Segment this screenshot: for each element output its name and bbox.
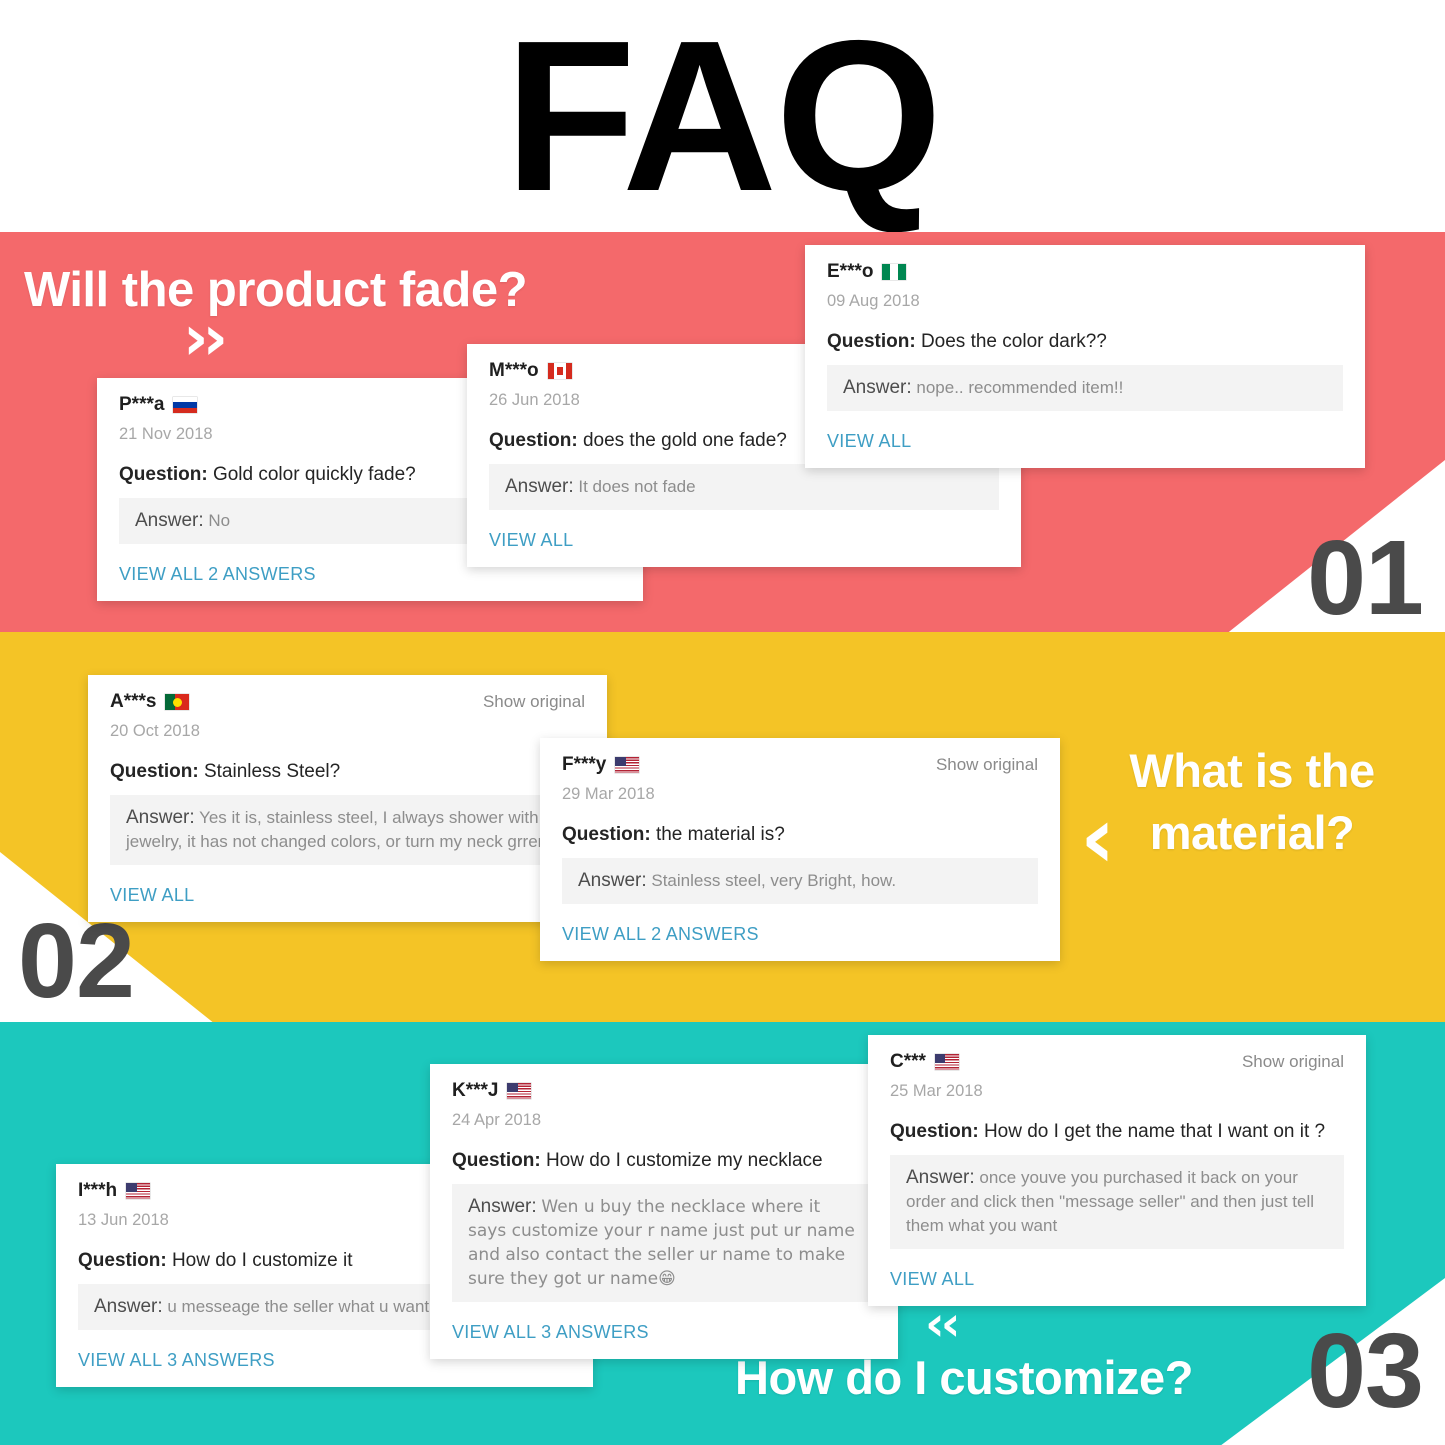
answer-label: Answer: (126, 807, 195, 828)
ru-flag-icon (173, 397, 197, 413)
card-question: Question: How do I get the name that I w… (890, 1121, 1344, 1143)
section-03-number: 03 (1307, 1318, 1423, 1424)
view-all-link[interactable]: VIEW ALL (489, 530, 999, 551)
section-02-heading: What is the material? (1087, 740, 1417, 864)
card-question: Question: Does the color dark?? (827, 331, 1343, 353)
section-01-heading: Will the product fade? (24, 262, 527, 318)
answer-text: nope.. recommended item!! (916, 378, 1123, 397)
username: F***y (562, 754, 606, 776)
answer-label: Answer: (578, 870, 647, 891)
view-all-link[interactable]: VIEW ALL 3 ANSWERS (452, 1322, 876, 1343)
question-label: Question: (78, 1250, 167, 1271)
us-flag-icon (615, 757, 639, 773)
username: A***s (110, 691, 156, 713)
card-question: Question: How do I customize my necklace (452, 1150, 876, 1172)
show-original-link[interactable]: Show original (483, 692, 585, 712)
answer-label: Answer: (906, 1167, 975, 1188)
question-text: How do I customize my necklace (546, 1150, 823, 1171)
page-title: FAQ (0, 8, 1445, 223)
card-question: Question: Stainless Steel? (110, 761, 585, 783)
section-01-number: 01 (1307, 525, 1423, 631)
card-answer: Answer: Stainless steel, very Bright, ho… (562, 858, 1038, 904)
username: K***J (452, 1080, 498, 1102)
answer-label: Answer: (94, 1296, 163, 1317)
card-header: K***J (452, 1078, 876, 1104)
card-user: E***o (827, 261, 906, 283)
faq-infographic: FAQ Will the product fade? ›› 01 P***a 2… (0, 0, 1445, 1445)
question-text: How do I get the name that I want on it … (984, 1121, 1325, 1142)
qa-card[interactable]: E***o 09 Aug 2018 Question: Does the col… (805, 245, 1365, 468)
question-label: Question: (562, 824, 651, 845)
chevron-left-double-icon: ‹‹ (925, 1300, 957, 1348)
card-header: C*** Show original (890, 1049, 1344, 1075)
view-all-link[interactable]: VIEW ALL (890, 1269, 1344, 1290)
card-date: 29 Mar 2018 (562, 785, 1038, 804)
qa-card[interactable]: A***s Show original 20 Oct 2018 Question… (88, 675, 607, 922)
chevron-left-icon: ‹ (1080, 795, 1115, 881)
question-text: Gold color quickly fade? (213, 464, 416, 485)
answer-label: Answer: (135, 510, 204, 531)
card-header: E***o (827, 259, 1343, 285)
username: E***o (827, 261, 873, 283)
card-question: Question: the material is? (562, 824, 1038, 846)
question-text: does the gold one fade? (583, 430, 787, 451)
show-original-link[interactable]: Show original (1242, 1052, 1344, 1072)
username: C*** (890, 1051, 926, 1073)
card-answer: Answer: nope.. recommended item!! (827, 365, 1343, 411)
card-user: K***J (452, 1080, 531, 1102)
qa-card[interactable]: K***J 24 Apr 2018 Question: How do I cus… (430, 1064, 898, 1359)
qa-card[interactable]: F***y Show original 29 Mar 2018 Question… (540, 738, 1060, 961)
us-flag-icon (935, 1054, 959, 1070)
card-answer: Answer: Yes it is, stainless steel, I al… (110, 795, 585, 865)
question-text: the material is? (656, 824, 785, 845)
answer-text: No (208, 511, 230, 530)
section-02-number: 02 (18, 908, 134, 1014)
card-date: 24 Apr 2018 (452, 1111, 876, 1130)
show-original-link[interactable]: Show original (936, 755, 1038, 775)
answer-text: Stainless steel, very Bright, how. (651, 871, 896, 890)
card-user: P***a (119, 394, 197, 416)
pt-flag-icon (165, 694, 189, 710)
view-all-link[interactable]: VIEW ALL 2 ANSWERS (562, 924, 1038, 945)
question-label: Question: (489, 430, 578, 451)
card-answer: Answer: Wen u buy the necklace where it … (452, 1184, 876, 1302)
card-user: C*** (890, 1051, 959, 1073)
view-all-link[interactable]: VIEW ALL (110, 885, 585, 906)
card-user: A***s (110, 691, 189, 713)
ca-flag-icon (548, 363, 572, 379)
answer-text: It does not fade (578, 477, 695, 496)
card-date: 20 Oct 2018 (110, 722, 585, 741)
question-label: Question: (827, 331, 916, 352)
us-flag-icon (126, 1183, 150, 1199)
card-date: 09 Aug 2018 (827, 292, 1343, 311)
question-label: Question: (890, 1121, 979, 1142)
answer-label: Answer: (468, 1196, 537, 1217)
card-user: M***o (489, 360, 572, 382)
username: I***h (78, 1180, 117, 1202)
ng-flag-icon (882, 264, 906, 280)
card-date: 25 Mar 2018 (890, 1082, 1344, 1101)
qa-card[interactable]: C*** Show original 25 Mar 2018 Question:… (868, 1035, 1366, 1306)
card-answer: Answer: once youve you purchased it back… (890, 1155, 1344, 1249)
question-text: Stainless Steel? (204, 761, 340, 782)
card-header: F***y Show original (562, 752, 1038, 778)
us-flag-icon (507, 1083, 531, 1099)
view-all-link[interactable]: VIEW ALL 2 ANSWERS (119, 564, 621, 585)
card-user: I***h (78, 1180, 150, 1202)
username: P***a (119, 394, 164, 416)
card-answer: Answer: It does not fade (489, 464, 999, 510)
answer-label: Answer: (505, 476, 574, 497)
card-header: A***s Show original (110, 689, 585, 715)
view-all-link[interactable]: VIEW ALL (827, 431, 1343, 452)
question-label: Question: (452, 1150, 541, 1171)
question-text: Does the color dark?? (921, 331, 1107, 352)
question-text: How do I customize it (172, 1250, 353, 1271)
card-user: F***y (562, 754, 639, 776)
chevron-right-icon: ›› (183, 307, 222, 369)
question-label: Question: (119, 464, 208, 485)
username: M***o (489, 360, 539, 382)
answer-label: Answer: (843, 377, 912, 398)
question-label: Question: (110, 761, 199, 782)
